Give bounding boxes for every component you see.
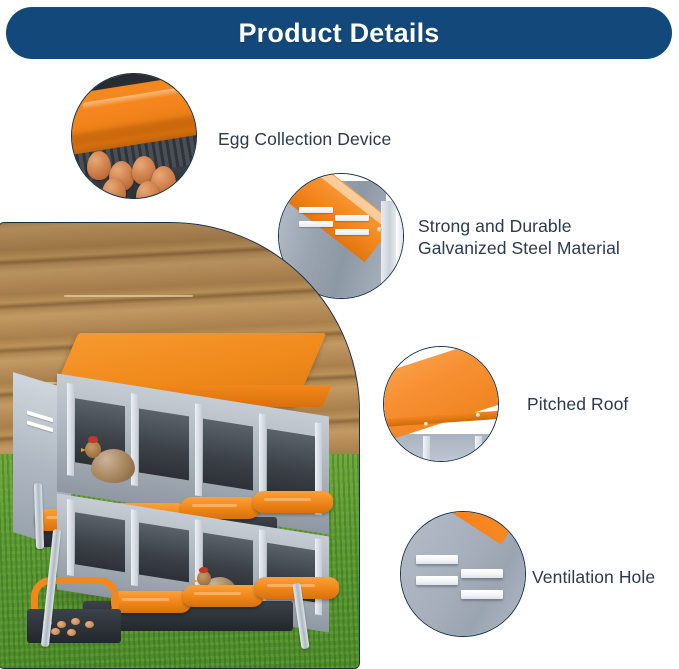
- collected-egg: [71, 618, 80, 625]
- nesting-compartment: [139, 522, 189, 582]
- roll-away-egg-tray: [253, 491, 333, 513]
- ventilation-slot: [461, 569, 503, 578]
- infographic-canvas: Product Details Egg Collection Device: [0, 0, 679, 665]
- main-product-photo: [0, 222, 360, 669]
- callout-image-pitched-roof: [383, 346, 499, 462]
- nesting-compartment: [139, 408, 189, 480]
- callout-label-galvanized-steel: Strong and Durable Galvanized Steel Mate…: [418, 215, 620, 259]
- vent-photo-orange-corner: [439, 511, 526, 545]
- nesting-compartment: [267, 429, 317, 501]
- ventilation-slot: [27, 410, 53, 422]
- header-banner: Product Details: [6, 7, 672, 59]
- roof-photo-post: [423, 436, 430, 462]
- photo-nesting-box: [11, 333, 341, 623]
- roof-photo-orange-panel: [383, 346, 499, 447]
- hen-head: [197, 571, 211, 586]
- ventilation-slot: [416, 555, 458, 564]
- collected-egg: [51, 628, 60, 635]
- collected-egg: [67, 629, 76, 636]
- callout-label-ventilation-hole: Ventilation Hole: [532, 566, 655, 588]
- fence-nail: [64, 295, 194, 297]
- roll-away-egg-tray: [183, 585, 263, 607]
- callout-image-egg-collection: [71, 73, 197, 199]
- egg-photo-egg: [87, 151, 111, 180]
- hen-comb: [199, 567, 208, 573]
- ventilation-slot: [461, 590, 503, 599]
- callout-label-pitched-roof: Pitched Roof: [527, 393, 628, 415]
- compartment-divider: [67, 383, 74, 476]
- nesting-compartment: [75, 512, 125, 572]
- ventilation-slots-photo: [401, 512, 525, 636]
- hen-head: [85, 441, 101, 458]
- hen-comb: [88, 436, 98, 443]
- page-title: Product Details: [238, 18, 439, 49]
- ventilation-slot: [299, 207, 333, 213]
- pitched-roof-photo: [384, 347, 498, 461]
- compartment-divider: [195, 403, 202, 496]
- collected-egg: [85, 621, 94, 628]
- photo-hen-upper: [85, 439, 137, 483]
- steel-photo-edge-post: [396, 211, 403, 298]
- compartment-divider: [67, 499, 74, 576]
- callout-label-egg-collection: Egg Collection Device: [218, 128, 391, 150]
- collected-egg: [57, 621, 66, 628]
- roof-photo-post: [475, 436, 482, 462]
- ventilation-slot: [27, 420, 53, 432]
- compartment-divider: [131, 509, 138, 586]
- nesting-compartment: [203, 419, 253, 491]
- ventilation-slot: [416, 576, 458, 585]
- callout-image-ventilation-hole: [400, 511, 526, 637]
- ventilation-slot: [335, 215, 369, 221]
- egg-tray-photo: [72, 74, 196, 198]
